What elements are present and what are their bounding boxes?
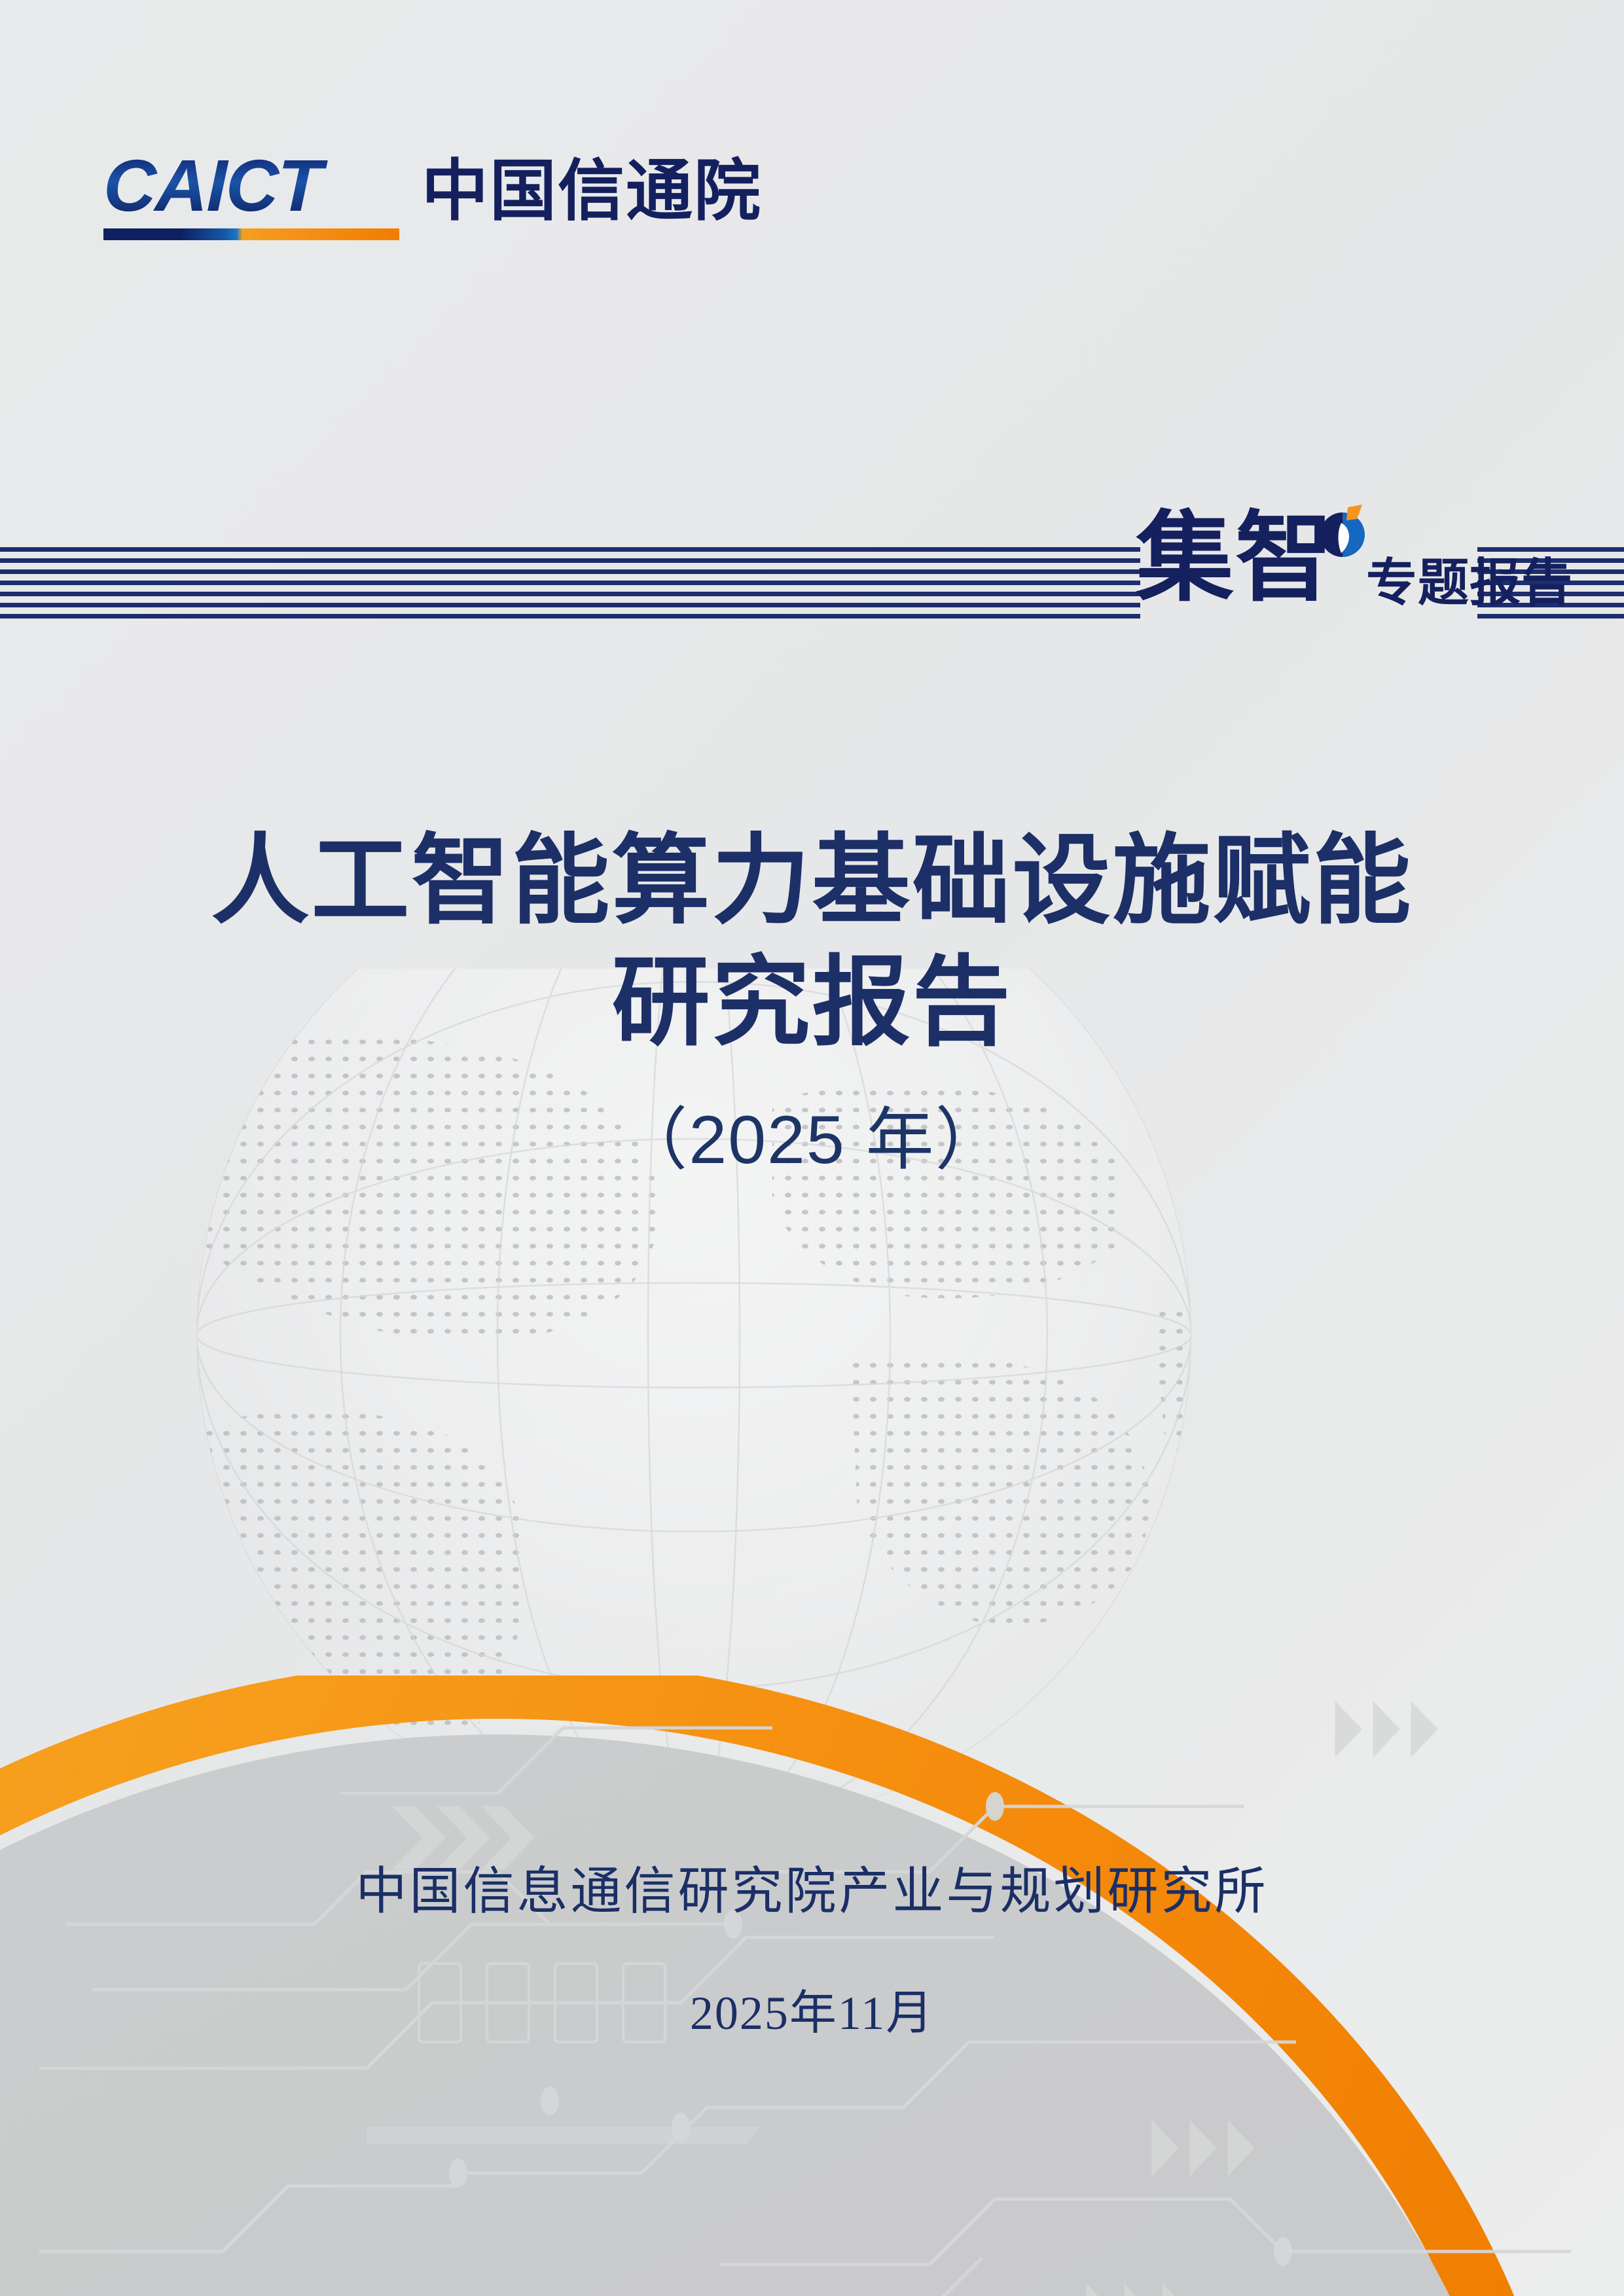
cover-subtitle: （2025 年） — [0, 1106, 1624, 1174]
publisher-organization: 中国信息通信研究院产业与规划研究所 — [0, 1865, 1624, 1916]
jizhi-orb-icon — [1311, 503, 1374, 566]
caict-letters: CAICT — [103, 149, 400, 223]
jizhi-series-label: 专题报告 — [1366, 557, 1573, 619]
cover-title-line-2: 研究报告 — [0, 941, 1624, 1063]
cover-title-line-1: 人工智能算力基础设施赋能 — [0, 819, 1624, 941]
institute-name: 中国信通院 — [422, 158, 762, 240]
jizhi-char-ji: 集 — [1136, 509, 1230, 607]
report-cover-page: CAICT 中国信通院 集 智 — [0, 0, 1624, 2296]
jizhi-series-badge: 集 智 专题报告 — [1136, 494, 1573, 619]
jizhi-brandmark: 集 智 — [1136, 494, 1352, 619]
publication-date: 2025年11月 — [0, 1990, 1624, 2037]
caict-wordmark: CAICT — [103, 149, 399, 240]
caict-accent-bar — [103, 228, 399, 240]
cover-title: 人工智能算力基础设施赋能 研究报告 — [0, 819, 1624, 1063]
bottom-panel — [0, 1676, 1624, 2296]
caict-logo: CAICT 中国信通院 — [103, 149, 762, 240]
